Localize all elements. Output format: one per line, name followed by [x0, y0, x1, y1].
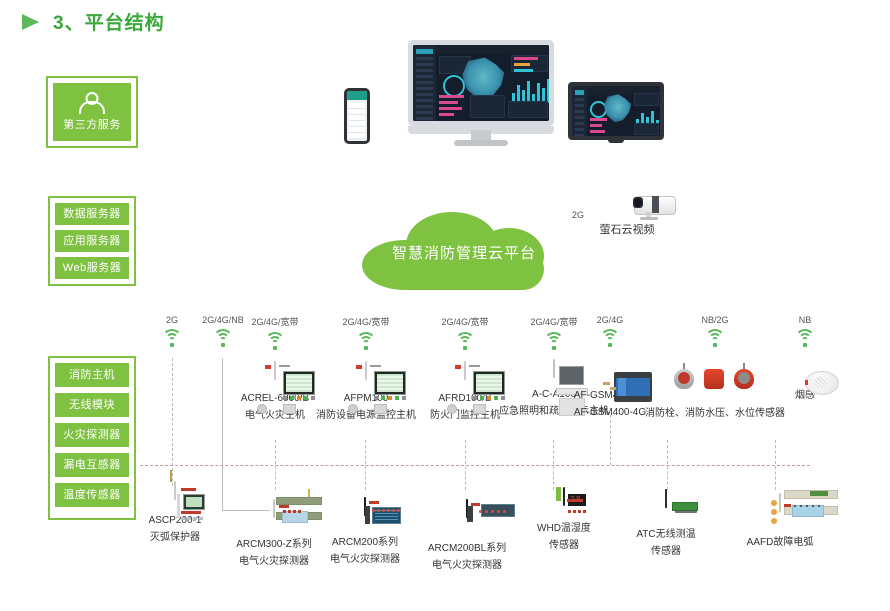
server-item-app[interactable]: 应用服务器 [55, 230, 129, 252]
device-category-fire-detector[interactable]: 火灾探测器 [55, 423, 129, 447]
dashboard-screen-desktop [413, 45, 549, 121]
network-label: 2G/4G/NB [202, 315, 244, 325]
device-desc: 电气火灾探测器 [239, 553, 309, 570]
device-desc: 传感器 [549, 537, 579, 554]
network-label: NB/2G [701, 315, 728, 325]
server-item-web[interactable]: Web服务器 [55, 257, 129, 279]
device-desc: 电气火灾探测器 [432, 557, 502, 574]
network-label: 2G/4G [597, 315, 624, 325]
bottom-device-aafd: AAFD故障电弧 [740, 482, 820, 551]
network-label: 2G/4G/宽带 [530, 315, 577, 328]
bottom-device-arcm200: ARCM200系列 电气火灾探测器 [328, 486, 402, 568]
cloud-platform-label: 智慧消防管理云平台 [362, 242, 566, 263]
device-desc: 传感器 [651, 543, 681, 560]
device-desc: AF-GSM400-4G [574, 404, 646, 421]
network-label: 2G/4G/宽带 [441, 315, 488, 328]
device-desc: 消防栓、消防水压、水位传感器 [645, 405, 785, 422]
cloud-platform-shape: 智慧消防管理云平台 [362, 212, 566, 290]
wifi-signal-icon [356, 332, 376, 350]
connector-drop-3 [465, 440, 466, 490]
device-category-temp-sensor[interactable]: 温度传感器 [55, 483, 129, 507]
network-label: 2G/4G/宽带 [251, 315, 298, 328]
wifi-signal-icon [162, 329, 182, 347]
device-column-afgsm400: 2G/4G AF-GSM400-2G AF-GSM400-4G [576, 315, 644, 421]
person-icon [79, 92, 105, 114]
connector-line-col1 [172, 358, 173, 486]
device-category-list: 消防主机 无线模块 火灾探测器 漏电互感器 温度传感器 [48, 356, 136, 520]
device-model: WHD温湿度 [537, 520, 591, 537]
arc-fault-detector-icon [779, 494, 781, 512]
control-panel-icon [365, 362, 367, 380]
camera-network-label: 2G [572, 210, 584, 220]
tablet-device [568, 82, 664, 144]
device-model: ATC无线测温 [636, 526, 695, 543]
connector-bus-horizontal [140, 465, 810, 466]
device-model: AAFD故障电弧 [747, 534, 814, 551]
device-desc: 防火门监控主机 [430, 407, 500, 424]
third-party-service-label: 第三方服务 [63, 116, 121, 132]
control-panel-icon [464, 362, 466, 380]
device-model: ARCM300-Z系列 [236, 536, 312, 553]
wifi-signal-icon [705, 329, 725, 347]
network-label: 2G/4G/宽带 [342, 315, 389, 328]
device-column-hydrant-sensors: NB/2G 消防栓、消防水压、水位传感器 [655, 315, 775, 422]
device-column-afpm100: 2G/4G/宽带 AFPM100 消防设备电源监控主机 [334, 315, 398, 424]
wifi-signal-icon [544, 332, 564, 350]
server-item-data[interactable]: 数据服务器 [55, 203, 129, 225]
server-stack: 数据服务器 应用服务器 Web服务器 [48, 196, 136, 286]
device-desc: 电气火灾探测器 [330, 551, 400, 568]
wifi-signal-icon [265, 332, 285, 350]
device-desc: 电气火灾主机 [245, 407, 305, 424]
bottom-device-whd: 28 WHD温湿度 传感器 [528, 482, 600, 554]
imac-desktop-device [408, 40, 554, 148]
pressure-sensors-icon [674, 363, 756, 389]
temp-humidity-sensor-icon: 28 [563, 488, 565, 506]
wireless-temp-sensor-icon [665, 490, 667, 508]
device-column-smoke-detector: NB 烟感 [775, 315, 835, 404]
arc-protector-icon [174, 482, 176, 500]
connector-drop-2 [365, 440, 366, 490]
network-column-1: 2G [152, 315, 192, 347]
device-category-fire-host[interactable]: 消防主机 [55, 363, 129, 387]
din-rail-meter-icon [273, 500, 275, 518]
third-party-service-box[interactable]: 第三方服务 [46, 76, 138, 148]
bottom-device-ascp200: ASCP200-1 灭弧保护器 [140, 482, 210, 546]
dashboard-screen-tablet [572, 86, 660, 136]
wifi-signal-icon [600, 329, 620, 347]
bottom-device-arcm200bl: ARCM200BL系列 电气火灾探测器 [428, 486, 506, 574]
device-model: ASCP200-1 [149, 512, 202, 529]
triangle-right-icon [22, 14, 39, 30]
wifi-signal-icon [213, 329, 233, 347]
device-category-leakage-ct[interactable]: 漏电互感器 [55, 453, 129, 477]
device-column-afrd100: 2G/4G/宽带 AFRD100/B 防火门监控主机 [433, 315, 497, 424]
device-model: ARCM200系列 [332, 534, 398, 551]
panel-meter-icon [364, 498, 366, 516]
control-panel-icon [274, 362, 276, 380]
wifi-signal-icon [455, 332, 475, 350]
camera-caption: 萤石云视频 [562, 222, 692, 239]
page-title-text: 3、平台结构 [53, 8, 165, 35]
device-column-acrel6000: 2G/4G/宽带 ACREL-6000/B 电气火灾主机 [243, 315, 307, 424]
device-model: ARCM200BL系列 [428, 540, 506, 557]
network-column-2: 2G/4G/NB [196, 315, 250, 347]
camera-block: 2G [572, 188, 682, 250]
wide-panel-meter-icon [466, 500, 468, 518]
hardware-cluster [330, 38, 620, 150]
smartphone-device [344, 88, 370, 144]
device-category-wireless-module[interactable]: 无线模块 [55, 393, 129, 417]
network-label: NB [799, 315, 812, 325]
connector-drop-1 [275, 440, 276, 490]
network-label: 2G [166, 315, 178, 325]
bottom-device-atc: ATC无线测温 传感器 [630, 482, 702, 560]
page-title: 3、平台结构 [22, 8, 165, 35]
connector-line-col2 [222, 358, 223, 510]
device-desc: 灭弧保护器 [150, 529, 200, 546]
device-desc: 消防设备电源监控主机 [316, 407, 416, 424]
bottom-device-arcm300z: ARCM300-Z系列 电气火灾探测器 [237, 486, 311, 570]
wifi-signal-icon [795, 329, 815, 347]
kiosk-terminal-icon [553, 360, 555, 378]
connector-riser-gsm [610, 415, 611, 465]
